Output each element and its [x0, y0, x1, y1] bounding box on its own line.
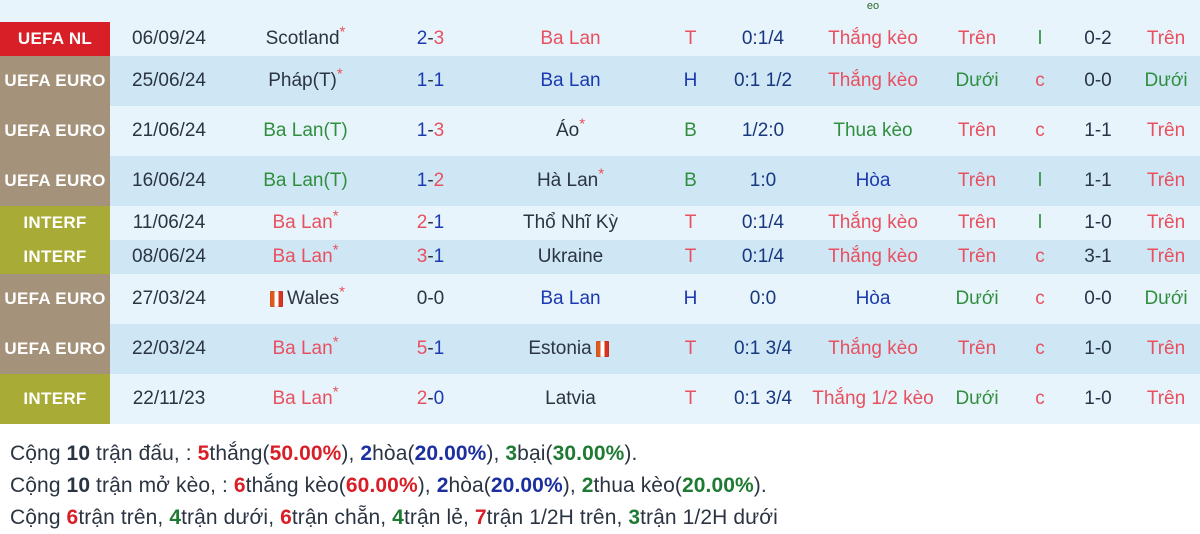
s2-total: 10	[67, 474, 91, 497]
s2-prefix: Cộng	[10, 474, 67, 497]
handicap-line: 0:1/4	[718, 22, 808, 56]
halftime-over-under: Trên	[1132, 324, 1200, 374]
sliver-cell	[383, 0, 478, 22]
home-away-marker: *	[339, 284, 345, 301]
away-team-name: Ba Lan	[540, 28, 600, 49]
halftime-over-under: Dưới	[1132, 274, 1200, 324]
score-cell: 1-1	[383, 56, 478, 106]
home-team-cell[interactable]: Pháp(T)*	[228, 56, 383, 106]
table-row[interactable]: UEFA NL06/09/24Scotland*2-3Ba LanT0:1/4T…	[0, 22, 1200, 56]
s3-over-count: 6	[67, 506, 79, 529]
away-score: 1	[434, 246, 445, 267]
home-team-cell[interactable]: Ba Lan*	[228, 324, 383, 374]
score-cell: 5-1	[383, 324, 478, 374]
result-letter: T	[663, 374, 718, 424]
away-team-name: Latvia	[545, 388, 596, 409]
score-cell: 3-1	[383, 240, 478, 274]
halftime-score: 0-2	[1064, 22, 1132, 56]
sliver-cell: eo	[808, 0, 938, 22]
odds-result: Thua kèo	[808, 106, 938, 156]
s1-draw-close: ),	[486, 442, 505, 465]
away-score: 1	[434, 212, 445, 233]
halftime-score: 0-0	[1064, 274, 1132, 324]
odds-result: Thắng kèo	[808, 22, 938, 56]
s3-even-count: 6	[280, 506, 292, 529]
table-row[interactable]: UEFA EURO22/03/24Ba Lan*5-1EstoniaT0:1 3…	[0, 324, 1200, 374]
s1-win-close: ),	[341, 442, 360, 465]
s1-loss-label: bại(	[517, 442, 552, 465]
s3-ht-over-label: trận 1/2H trên,	[487, 506, 629, 529]
over-under-result: Trên	[938, 156, 1016, 206]
s3-ht-over-count: 7	[475, 506, 487, 529]
halftime-over-under: Trên	[1132, 374, 1200, 424]
result-letter: T	[663, 324, 718, 374]
result-letter: T	[663, 240, 718, 274]
away-score: 1	[434, 70, 445, 91]
halftime-over-under: Trên	[1132, 22, 1200, 56]
s2-loss-close: ).	[754, 474, 767, 497]
home-away-marker: *	[333, 334, 339, 351]
away-team-cell[interactable]: Thổ Nhĩ Kỳ	[478, 206, 663, 240]
away-score: 3	[434, 28, 445, 49]
away-score: 2	[434, 170, 445, 191]
over-under-result: Trên	[938, 324, 1016, 374]
away-score: 0	[434, 388, 445, 409]
handicap-line: 1:0	[718, 156, 808, 206]
s1-prefix: Cộng	[10, 442, 67, 465]
table-row[interactable]: INTERF08/06/24Ba Lan*3-1UkraineT0:1/4Thắ…	[0, 240, 1200, 274]
s1-loss-pct: 30.00%	[553, 442, 625, 465]
home-away-marker: *	[333, 242, 339, 259]
over-under-result: Dưới	[938, 56, 1016, 106]
away-team-name: Áo	[556, 120, 579, 141]
table-row[interactable]: UEFA EURO25/06/24Pháp(T)*1-1Ba LanH0:1 1…	[0, 56, 1200, 106]
over-under-result: Trên	[938, 22, 1016, 56]
odds-result: Hòa	[808, 274, 938, 324]
handicap-line: 0:1 3/4	[718, 324, 808, 374]
odd-even-result: l	[1016, 22, 1064, 56]
league-badge[interactable]: UEFA EURO	[0, 56, 110, 106]
score-cell: 2-1	[383, 206, 478, 240]
score-cell: 2-0	[383, 374, 478, 424]
league-badge[interactable]: UEFA EURO	[0, 106, 110, 156]
sliver-cell	[663, 0, 718, 22]
sliver-cell	[718, 0, 808, 22]
score-cell: 1-3	[383, 106, 478, 156]
sliver-cell	[1016, 0, 1064, 22]
away-team-cell[interactable]: Ba Lan	[478, 274, 663, 324]
table-row[interactable]: UEFA EURO21/06/24Ba Lan(T)1-3Áo*B1/2:0Th…	[0, 106, 1200, 156]
odds-result: Thắng 1/2 kèo	[808, 374, 938, 424]
country-flag-icon	[596, 341, 609, 357]
odd-even-result: c	[1016, 240, 1064, 274]
over-under-result: Dưới	[938, 374, 1016, 424]
country-flag-icon	[270, 291, 283, 307]
s3-ht-under-count: 3	[628, 506, 640, 529]
home-team-cell[interactable]: Ba Lan(T)	[228, 106, 383, 156]
home-away-marker: *	[598, 166, 604, 183]
s2-win-close: ),	[418, 474, 437, 497]
away-team-cell[interactable]: Latvia	[478, 374, 663, 424]
odd-even-result: c	[1016, 274, 1064, 324]
home-team-name: Ba Lan	[272, 338, 332, 359]
away-team-cell[interactable]: Estonia	[478, 324, 663, 374]
home-team-cell[interactable]: Ba Lan*	[228, 374, 383, 424]
s2-draw-pct: 20.00%	[491, 474, 563, 497]
away-team-cell[interactable]: Hà Lan*	[478, 156, 663, 206]
odd-even-result: c	[1016, 56, 1064, 106]
halftime-score: 1-1	[1064, 106, 1132, 156]
s1-loss-close: ).	[624, 442, 637, 465]
result-letter: H	[663, 274, 718, 324]
s2-win-count: 6	[234, 474, 246, 497]
summary-block: Cộng 10 trận đấu, : 5thắng(50.00%), 2hòa…	[0, 430, 1200, 530]
s3-prefix: Cộng	[10, 506, 67, 529]
score-cell: 1-2	[383, 156, 478, 206]
s3-even-label: trận chẵn,	[292, 506, 392, 529]
home-team-name: Ba Lan	[272, 388, 332, 409]
s3-under-label: trận dưới,	[181, 506, 280, 529]
home-team-name: Pháp(T)	[268, 70, 337, 91]
halftime-over-under: Dưới	[1132, 56, 1200, 106]
s3-over-label: trận trên,	[78, 506, 169, 529]
odds-result: Thắng kèo	[808, 240, 938, 274]
s3-under-count: 4	[169, 506, 181, 529]
home-team-cell[interactable]: Ba Lan*	[228, 240, 383, 274]
match-history-table: eoUEFA NL06/09/24Scotland*2-3Ba LanT0:1/…	[0, 0, 1200, 424]
home-away-marker: *	[337, 66, 343, 83]
halftime-score: 1-0	[1064, 206, 1132, 240]
table-row[interactable]: UEFA EURO27/03/24Wales*0-0Ba LanH0:0HòaD…	[0, 274, 1200, 324]
home-score: 2	[417, 388, 428, 409]
s1-draw-pct: 20.00%	[415, 442, 487, 465]
match-history-panel: eoUEFA NL06/09/24Scotland*2-3Ba LanT0:1/…	[0, 0, 1200, 530]
match-date: 11/06/24	[110, 206, 228, 240]
s2-loss-pct: 20.00%	[682, 474, 754, 497]
league-badge[interactable]: INTERF	[0, 374, 110, 424]
sliver-cell	[938, 0, 1016, 22]
sliver-cell	[478, 0, 663, 22]
match-date: 22/03/24	[110, 324, 228, 374]
home-score: 5	[417, 338, 428, 359]
result-letter: B	[663, 106, 718, 156]
over-under-result: Trên	[938, 106, 1016, 156]
match-date: 21/06/24	[110, 106, 228, 156]
halftime-over-under: Trên	[1132, 156, 1200, 206]
table-row[interactable]: INTERF11/06/24Ba Lan*2-1Thổ Nhĩ KỳT0:1/4…	[0, 206, 1200, 240]
away-team-name: Ba Lan	[540, 288, 600, 309]
match-date: 25/06/24	[110, 56, 228, 106]
odd-even-result: c	[1016, 324, 1064, 374]
match-date: 22/11/23	[110, 374, 228, 424]
sliver-cell	[228, 0, 383, 22]
league-badge[interactable]: UEFA EURO	[0, 324, 110, 374]
home-team-name: Ba Lan(T)	[263, 120, 347, 141]
home-team-name: Ba Lan	[272, 246, 332, 267]
score-cell: 2-3	[383, 22, 478, 56]
table-row[interactable]: INTERF22/11/23Ba Lan*2-0LatviaT0:1 3/4Th…	[0, 374, 1200, 424]
halftime-score: 3-1	[1064, 240, 1132, 274]
s2-draw-label: hòa(	[448, 474, 490, 497]
odd-even-result: c	[1016, 106, 1064, 156]
s2-mid: trận mở kèo, :	[90, 474, 234, 497]
home-away-marker: *	[340, 24, 346, 41]
home-team-cell[interactable]: Ba Lan*	[228, 206, 383, 240]
odds-result: Thắng kèo	[808, 206, 938, 240]
league-badge[interactable]: INTERF	[0, 240, 110, 274]
s2-loss-count: 2	[582, 474, 594, 497]
table-row[interactable]: UEFA EURO16/06/24Ba Lan(T)1-2Hà Lan*B1:0…	[0, 156, 1200, 206]
away-team-name: Thổ Nhĩ Kỳ	[523, 212, 618, 233]
sliver-cell	[0, 0, 110, 22]
home-away-marker: *	[579, 116, 585, 133]
home-away-marker: *	[333, 208, 339, 225]
s1-total: 10	[67, 442, 91, 465]
s2-win-pct: 60.00%	[346, 474, 418, 497]
result-letter: B	[663, 156, 718, 206]
odd-even-result: c	[1016, 374, 1064, 424]
away-score: 1	[434, 338, 445, 359]
s1-win-count: 5	[198, 442, 210, 465]
s2-draw-close: ),	[563, 474, 582, 497]
s1-win-label: thắng(	[209, 442, 269, 465]
s3-odd-count: 4	[392, 506, 404, 529]
away-score: 3	[434, 120, 445, 141]
halftime-over-under: Trên	[1132, 206, 1200, 240]
away-team-name: Estonia	[528, 338, 591, 359]
home-score: 2	[417, 28, 428, 49]
league-badge[interactable]: UEFA NL	[0, 22, 110, 56]
league-badge[interactable]: UEFA EURO	[0, 274, 110, 324]
s3-ht-under-label: trận 1/2H dưới	[640, 506, 778, 529]
handicap-line: 0:1 1/2	[718, 56, 808, 106]
summary-line-odds: Cộng 10 trận mở kèo, : 6thắng kèo(60.00%…	[10, 470, 1190, 502]
halftime-score: 1-0	[1064, 374, 1132, 424]
home-score: 1	[417, 170, 428, 191]
over-under-result: Dưới	[938, 274, 1016, 324]
away-team-cell[interactable]: Ba Lan	[478, 56, 663, 106]
league-badge[interactable]: UEFA EURO	[0, 156, 110, 206]
summary-line-ou: Cộng 6trận trên, 4trận dưới, 6trận chẵn,…	[10, 502, 1190, 534]
match-date: 16/06/24	[110, 156, 228, 206]
table-top-sliver: eo	[0, 0, 1200, 22]
s3-odd-label: trận lẻ,	[404, 506, 475, 529]
halftime-score: 0-0	[1064, 56, 1132, 106]
halftime-score: 1-0	[1064, 324, 1132, 374]
home-score: 3	[417, 246, 428, 267]
home-team-cell[interactable]: Scotland*	[228, 22, 383, 56]
away-score: 0	[434, 288, 445, 309]
s1-draw-label: hòa(	[372, 442, 414, 465]
home-team-cell[interactable]: Wales*	[228, 274, 383, 324]
home-team-name: Ba Lan(T)	[263, 170, 347, 191]
s1-win-pct: 50.00%	[270, 442, 342, 465]
away-team-cell[interactable]: Ba Lan	[478, 22, 663, 56]
handicap-line: 0:1/4	[718, 240, 808, 274]
home-score: 1	[417, 70, 428, 91]
sliver-cell	[1064, 0, 1132, 22]
home-score: 2	[417, 212, 428, 233]
home-team-name: Scotland	[266, 28, 340, 49]
match-date: 08/06/24	[110, 240, 228, 274]
handicap-line: 0:1 3/4	[718, 374, 808, 424]
odds-result: Hòa	[808, 156, 938, 206]
odd-even-result: l	[1016, 206, 1064, 240]
handicap-line: 0:1/4	[718, 206, 808, 240]
away-team-cell[interactable]: Áo*	[478, 106, 663, 156]
odds-result: Thắng kèo	[808, 56, 938, 106]
sliver-cell	[1132, 0, 1200, 22]
odds-result: Thắng kèo	[808, 324, 938, 374]
odd-even-result: l	[1016, 156, 1064, 206]
match-date: 06/09/24	[110, 22, 228, 56]
s1-draw-count: 2	[360, 442, 372, 465]
over-under-result: Trên	[938, 206, 1016, 240]
result-letter: T	[663, 206, 718, 240]
s2-loss-label: thua kèo(	[593, 474, 681, 497]
s2-draw-count: 2	[437, 474, 449, 497]
halftime-over-under: Trên	[1132, 106, 1200, 156]
handicap-line: 0:0	[718, 274, 808, 324]
away-team-name: Ukraine	[538, 246, 603, 267]
result-letter: H	[663, 56, 718, 106]
over-under-result: Trên	[938, 240, 1016, 274]
home-team-name: Wales	[287, 288, 339, 309]
halftime-over-under: Trên	[1132, 240, 1200, 274]
home-score: 1	[417, 120, 428, 141]
away-team-cell[interactable]: Ukraine	[478, 240, 663, 274]
match-history-body: eoUEFA NL06/09/24Scotland*2-3Ba LanT0:1/…	[0, 0, 1200, 424]
result-letter: T	[663, 22, 718, 56]
match-date: 27/03/24	[110, 274, 228, 324]
s1-loss-count: 3	[505, 442, 517, 465]
summary-line-results: Cộng 10 trận đấu, : 5thắng(50.00%), 2hòa…	[10, 438, 1190, 470]
away-team-name: Hà Lan	[537, 170, 598, 191]
s1-mid: trận đấu, :	[90, 442, 198, 465]
home-team-name: Ba Lan	[272, 212, 332, 233]
handicap-line: 1/2:0	[718, 106, 808, 156]
league-badge[interactable]: INTERF	[0, 206, 110, 240]
score-cell: 0-0	[383, 274, 478, 324]
s2-win-label: thắng kèo(	[246, 474, 346, 497]
home-away-marker: *	[333, 384, 339, 401]
away-team-name: Ba Lan	[540, 70, 600, 91]
home-team-cell[interactable]: Ba Lan(T)	[228, 156, 383, 206]
home-score: 0	[417, 288, 428, 309]
halftime-score: 1-1	[1064, 156, 1132, 206]
sliver-cell	[110, 0, 228, 22]
